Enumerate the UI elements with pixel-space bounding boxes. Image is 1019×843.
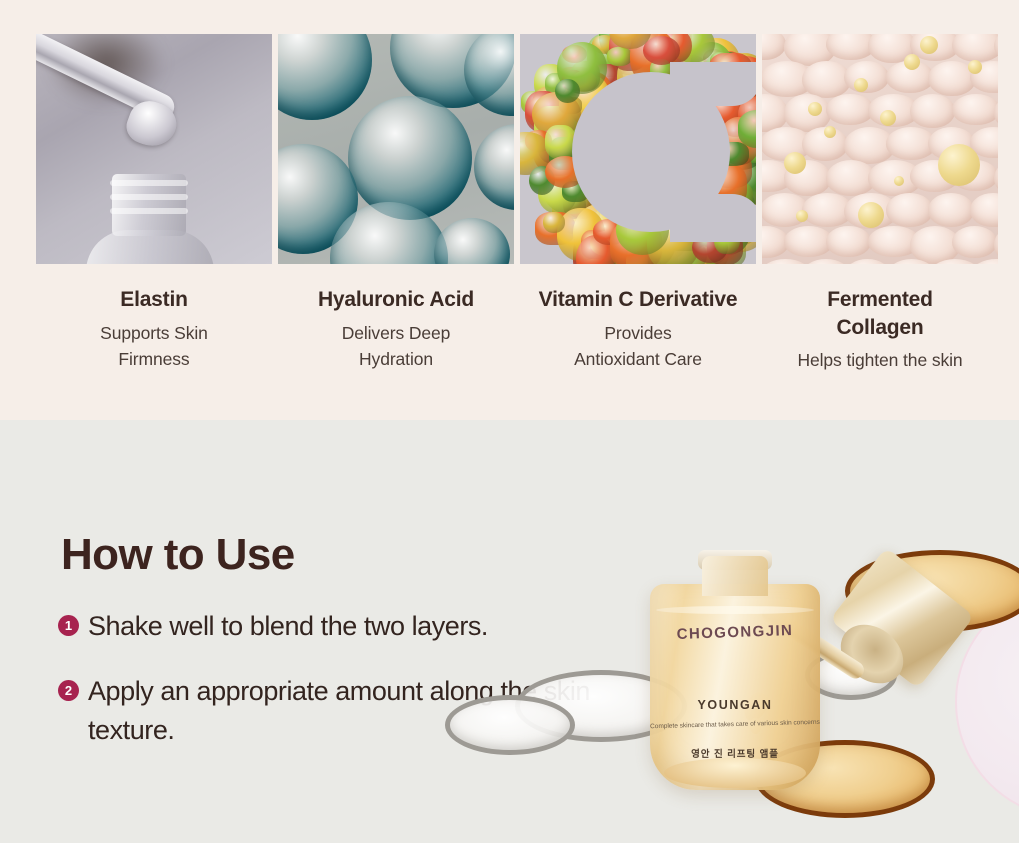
ingredient-name-line-1: Fermented: [762, 286, 998, 314]
fruit-piece: [607, 47, 631, 65]
collagen-capsule: [928, 193, 974, 227]
collagen-capsule: [952, 226, 997, 258]
ingredient-description: Provides Antioxidant Care: [520, 321, 756, 373]
ingredient-name: Vitamin C Derivative: [520, 286, 756, 314]
collagen-gold-bead: [904, 54, 920, 70]
step-number-badge: 1: [58, 615, 79, 636]
fruit-piece: [543, 212, 565, 233]
collagen-capsule: [886, 193, 933, 227]
product-image: CHOGONGJIN YOUNGAN Complete skincare tha…: [500, 420, 1019, 843]
desc-line-1: Supports Skin: [36, 321, 272, 347]
product-detail-page: Elastin Supports Skin Firmness Hyaluroni…: [0, 0, 1019, 843]
collagen-capsule: [844, 259, 891, 264]
ingredient-card-hyaluronic-acid: Hyaluronic Acid Delivers Deep Hydration: [278, 34, 514, 374]
collagen-capsule: [826, 226, 871, 257]
how-to-use-title: How to Use: [61, 530, 295, 580]
collagen-gold-bead: [894, 176, 904, 186]
collagen-capsule: [762, 34, 786, 60]
how-to-use-section: How to Use 1 Shake well to blend the two…: [0, 420, 1019, 843]
collagen-gold-bead: [968, 60, 982, 74]
elastin-dropper-photo: [36, 34, 272, 264]
ingredient-card-fermented-collagen: Fermented Collagen Helps tighten the ski…: [762, 34, 998, 374]
ingredient-description: Delivers Deep Hydration: [278, 321, 514, 373]
desc-line-1: Helps tighten the skin: [762, 348, 998, 374]
ingredient-description: Helps tighten the skin: [762, 348, 998, 374]
collagen-gold-bead: [784, 152, 806, 174]
collagen-capsule: [826, 94, 874, 125]
desc-line-1: Delivers Deep: [278, 321, 514, 347]
desc-line-2: Antioxidant Care: [520, 347, 756, 373]
serum-layer-line: [656, 606, 814, 614]
ingredients-section: Elastin Supports Skin Firmness Hyaluroni…: [0, 0, 1019, 420]
desc-line-1: Provides: [520, 321, 756, 347]
collagen-gold-bead: [854, 78, 868, 92]
hyaluronic-acid-droplets-photo: [278, 34, 514, 264]
desc-line-2: Hydration: [278, 347, 514, 373]
ingredient-card-vitamin-c: Vitamin C Derivative Provides Antioxidan…: [520, 34, 756, 374]
ingredient-description: Supports Skin Firmness: [36, 321, 272, 373]
collagen-gold-bead: [858, 202, 884, 228]
bottle-base: [664, 758, 806, 788]
bottle-korean-label: 영안 진 리프팅 앰플: [650, 746, 820, 760]
collagen-capsule: [994, 226, 998, 263]
collagen-capsule: [802, 259, 850, 264]
ingredient-grid: Elastin Supports Skin Firmness Hyaluroni…: [36, 34, 985, 374]
collagen-capsule: [970, 193, 998, 227]
fruit-piece: [555, 79, 580, 103]
collagen-capsule: [952, 34, 998, 62]
step-text: Shake well to blend the two layers.: [88, 607, 488, 646]
collagen-capsule: [952, 94, 998, 125]
collagen-capsule: [910, 94, 955, 128]
vitamin-c-fruit-photo: [520, 34, 756, 264]
collagen-gold-bead: [880, 110, 896, 126]
collagen-gold-bead: [920, 36, 938, 54]
collagen-gold-bead: [938, 144, 980, 186]
desc-line-2: Firmness: [36, 347, 272, 373]
ingredient-card-elastin: Elastin Supports Skin Firmness: [36, 34, 272, 374]
collagen-gold-bead: [824, 126, 836, 138]
ingredient-name-line-2: Collagen: [762, 314, 998, 342]
bottle-line-label: YOUNGAN: [650, 698, 820, 712]
clear-serum-puddle: [445, 695, 575, 755]
ingredient-name: Fermented Collagen: [762, 286, 998, 341]
collagen-capsule: [994, 160, 998, 196]
fermented-collagen-capsules-photo: [762, 34, 998, 264]
ingredient-name: Elastin: [36, 286, 272, 314]
collagen-capsule: [784, 94, 831, 132]
step-number-badge: 2: [58, 680, 79, 701]
ingredient-name: Hyaluronic Acid: [278, 286, 514, 314]
collagen-gold-bead: [796, 210, 808, 222]
collagen-capsule: [994, 34, 998, 63]
bottle-neck: [702, 556, 768, 596]
collagen-capsule: [762, 259, 811, 264]
serum-bottle: CHOGONGJIN YOUNGAN Complete skincare tha…: [650, 550, 820, 790]
collagen-gold-bead: [808, 102, 822, 116]
